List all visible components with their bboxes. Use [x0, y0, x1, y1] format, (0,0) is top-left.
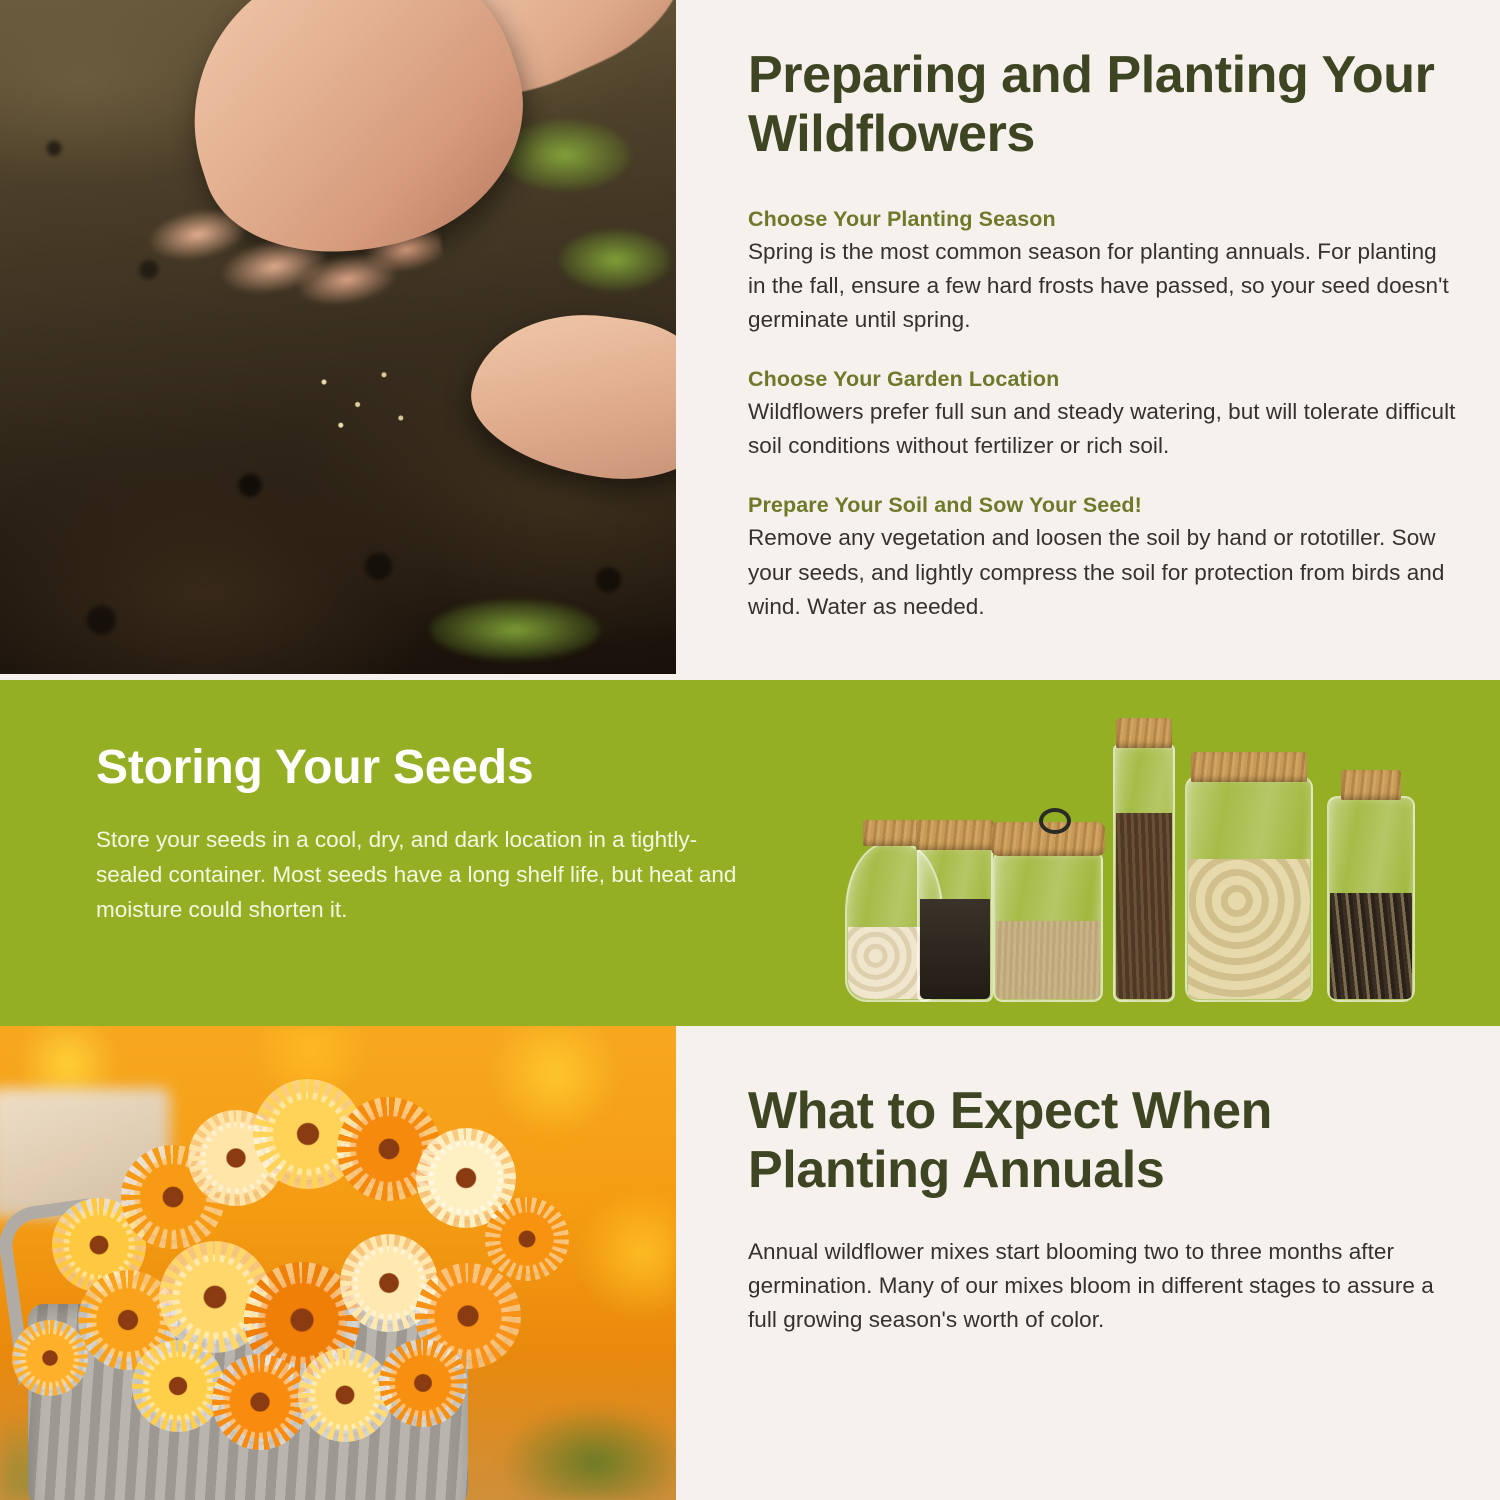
subheading-garden-location: Choose Your Garden Location	[748, 367, 1458, 392]
subheading-planting-season: Choose Your Planting Season	[748, 207, 1458, 232]
section-preparing-and-planting: Preparing and Planting Your Wildflowers …	[0, 0, 1500, 680]
cork-lid	[1116, 718, 1172, 748]
black-seed-jar	[917, 844, 993, 1002]
cork-lid	[1341, 770, 1401, 800]
text-block-garden-location: Choose Your Garden Location Wildflowers …	[748, 367, 1458, 463]
soil-planting-photo	[0, 0, 676, 674]
lid-knob	[1039, 808, 1071, 834]
section-what-to-expect: What to Expect When Planting Annuals Ann…	[0, 1026, 1500, 1500]
tall-tube-dark-seed-jar	[1113, 744, 1175, 1002]
flower-bloom	[220, 1362, 300, 1442]
subheading-prepare-soil: Prepare Your Soil and Sow Your Seed!	[748, 493, 1458, 518]
flower-bloom	[306, 1356, 384, 1434]
body-planting-season: Spring is the most common season for pla…	[748, 235, 1458, 338]
sprout-icon	[560, 230, 670, 290]
mixed-seed-jar	[1327, 796, 1415, 1002]
cork-lid	[916, 820, 994, 850]
flower-bloom	[18, 1326, 82, 1390]
flower-bloom	[140, 1348, 216, 1424]
flower-bloom	[492, 1204, 562, 1274]
page-title: Preparing and Planting Your Wildflowers	[748, 46, 1458, 165]
body-prepare-soil: Remove any vegetation and loosen the soi…	[748, 521, 1458, 624]
text-block-planting-season: Choose Your Planting Season Spring is th…	[748, 207, 1458, 338]
falling-seeds	[300, 355, 420, 445]
cork-lid	[1191, 752, 1307, 782]
what-to-expect-title: What to Expect When Planting Annuals	[748, 1082, 1458, 1201]
green-text-column: Storing Your Seeds Store your seeds in a…	[96, 740, 756, 928]
what-to-expect-body: Annual wildflower mixes start blooming t…	[748, 1235, 1458, 1338]
top-text-column: Preparing and Planting Your Wildflowers …	[748, 0, 1458, 624]
text-block-prepare-soil: Prepare Your Soil and Sow Your Seed! Rem…	[748, 493, 1458, 624]
seed-jars-photo	[845, 702, 1465, 1002]
storing-seeds-body: Store your seeds in a cool, dry, and dar…	[96, 823, 756, 928]
calendula-basket-photo	[0, 1026, 676, 1500]
storing-seeds-title: Storing Your Seeds	[96, 740, 756, 795]
flower-bloom	[386, 1346, 460, 1420]
body-garden-location: Wildflowers prefer full sun and steady w…	[748, 395, 1458, 463]
infographic-page: Preparing and Planting Your Wildflowers …	[0, 0, 1500, 1500]
sprout-icon	[430, 600, 600, 660]
bottom-text-column: What to Expect When Planting Annuals Ann…	[748, 1026, 1458, 1337]
flower-bloom	[424, 1136, 508, 1220]
pumpkin-seed-jar	[1185, 776, 1313, 1002]
tan-grain-jar	[993, 852, 1103, 1002]
section-storing-your-seeds: Storing Your Seeds Store your seeds in a…	[0, 680, 1500, 1026]
